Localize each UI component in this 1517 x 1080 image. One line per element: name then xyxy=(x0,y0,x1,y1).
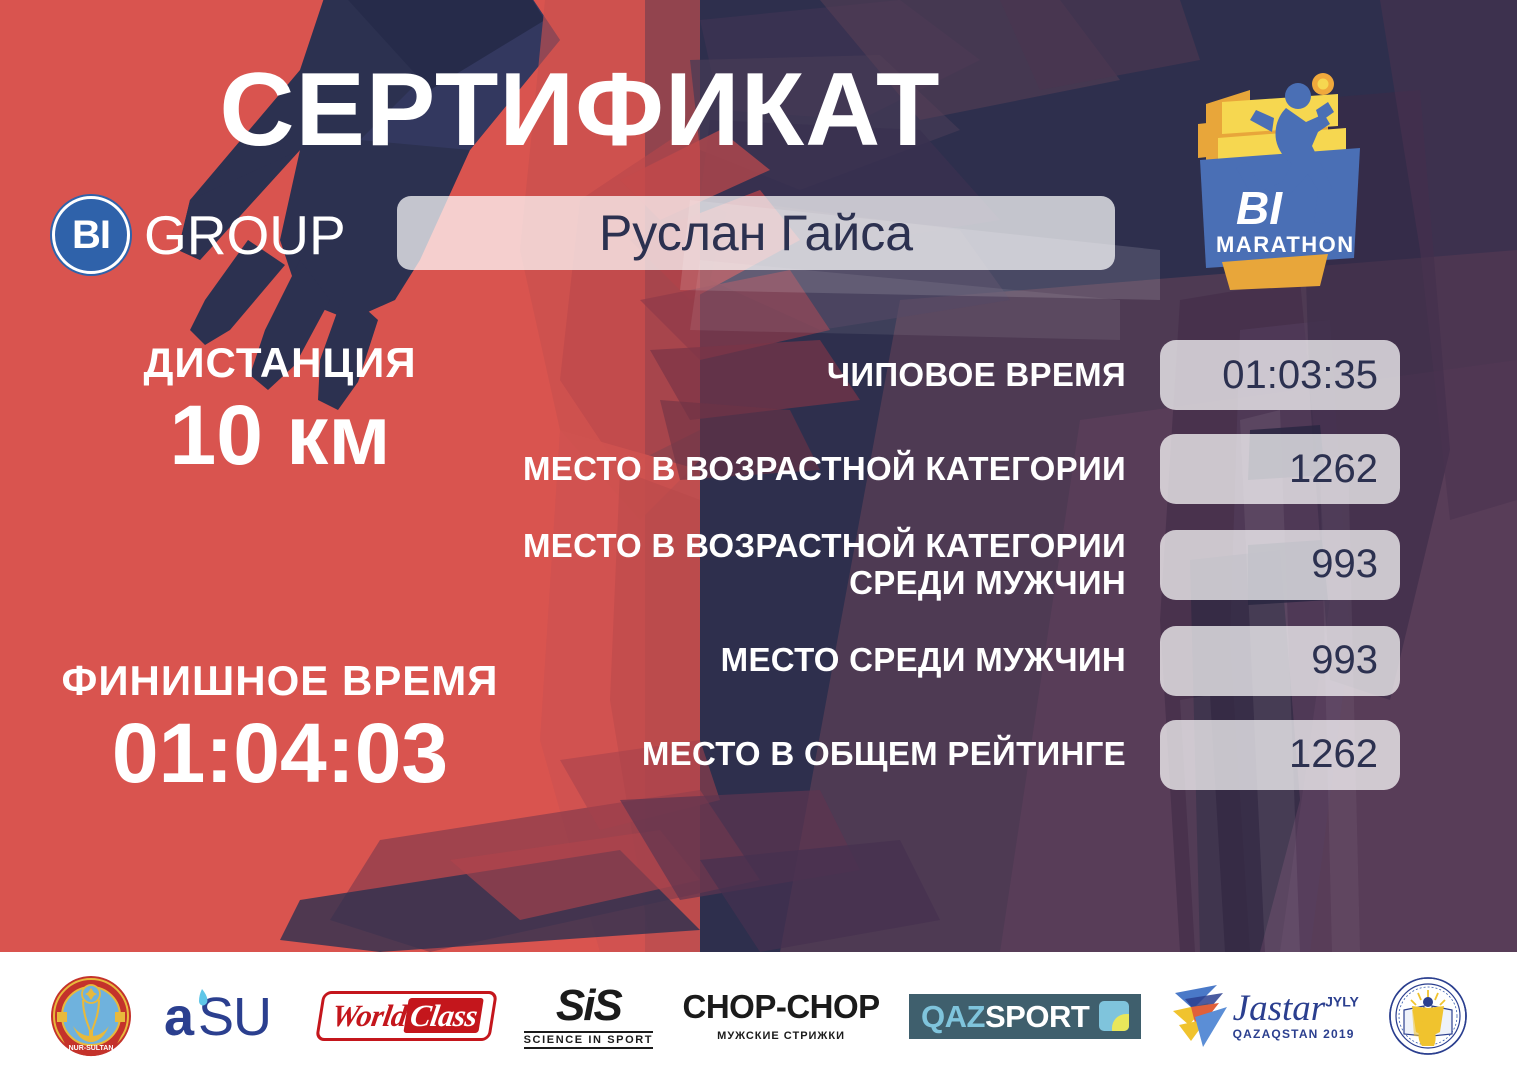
bi-group-logo: BI GROUP xyxy=(52,196,346,274)
qazsport-text-b: SPORT xyxy=(985,999,1089,1034)
stat-row-chip-time: ЧИПОВОЕ ВРЕМЯ 01:03:35 xyxy=(520,340,1400,410)
nur-sultan-emblem-icon: NUR-SULTAN xyxy=(49,974,133,1058)
finish-time-value: 01:04:03 xyxy=(20,707,540,799)
ministry-emblem-icon xyxy=(1388,976,1468,1056)
stat-row-men-place: МЕСТО СРЕДИ МУЖЧИН 993 xyxy=(520,626,1400,696)
men-place-value: 993 xyxy=(1160,626,1400,696)
sis-tagline: SCIENCE IN SPORT xyxy=(524,1031,654,1049)
bi-badge-icon: BI xyxy=(52,196,130,274)
page-title: СЕРТИФИКАТ xyxy=(0,58,1160,162)
svg-text:a: a xyxy=(164,987,195,1047)
men-place-label: МЕСТО СРЕДИ МУЖЧИН xyxy=(520,642,1160,679)
jastar-bird-icon xyxy=(1171,981,1233,1051)
overall-place-label: МЕСТО В ОБЩЕМ РЕЙТИНГЕ xyxy=(520,736,1160,773)
chop-chop-tagline: МУЖСКИЕ СТРИЖКИ xyxy=(683,1030,880,1042)
age-category-place-value: 1262 xyxy=(1160,434,1400,504)
bi-marathon-svg: BI MARATHON xyxy=(1178,62,1383,302)
jastar-jyly-text: JYLY xyxy=(1325,994,1359,1010)
asu-logo-icon: a SU xyxy=(162,985,290,1047)
stat-row-age-category-men-place: МЕСТО В ВОЗРАСТНОЙ КАТЕГОРИИ СРЕДИ МУЖЧИ… xyxy=(520,528,1400,602)
sponsor-chop-chop: CHOP-CHOP МУЖСКИЕ СТРИЖКИ xyxy=(683,990,880,1042)
world-class-text-b: Class xyxy=(404,998,484,1033)
qazsport-text-a: QAZ xyxy=(921,999,985,1034)
world-class-text-a: World xyxy=(330,998,410,1033)
svg-text:SU: SU xyxy=(198,987,271,1047)
nur-sultan-text: NUR-SULTAN xyxy=(68,1045,113,1052)
bi-marathon-logo: BI MARATHON xyxy=(1178,62,1383,302)
distance-label: ДИСТАНЦИЯ xyxy=(20,340,540,385)
left-stat-finish-time: ФИНИШНОЕ ВРЕМЯ 01:04:03 xyxy=(20,658,540,800)
jastar-wordmark: Jastar xyxy=(1233,988,1326,1029)
left-stat-distance: ДИСТАНЦИЯ 10 км xyxy=(20,340,540,482)
certificate-canvas: СЕРТИФИКАТ BI GROUP Руслан Гайса xyxy=(0,0,1517,1080)
sponsor-sis: SiS SCIENCE IN SPORT xyxy=(524,984,654,1049)
qazsport-mark-icon xyxy=(1099,1001,1129,1031)
age-category-men-place-value: 993 xyxy=(1160,530,1400,600)
chip-time-value: 01:03:35 xyxy=(1160,340,1400,410)
chip-time-label: ЧИПОВОЕ ВРЕМЯ xyxy=(520,357,1160,394)
jastar-tagline: QAZAQSTAN 2019 xyxy=(1233,1027,1359,1041)
qazsport-logo-icon: QAZSPORT xyxy=(909,994,1141,1039)
right-stats-column: ЧИПОВОЕ ВРЕМЯ 01:03:35 МЕСТО В ВОЗРАСТНО… xyxy=(520,340,1400,814)
sponsor-ministry xyxy=(1388,976,1468,1056)
age-category-place-label: МЕСТО В ВОЗРАСТНОЙ КАТЕГОРИИ xyxy=(520,451,1160,488)
sponsor-world-class: WorldClass xyxy=(319,991,494,1041)
sis-wordmark: SiS xyxy=(524,984,654,1028)
participant-name-field: Руслан Гайса xyxy=(397,196,1115,270)
chop-chop-wordmark: CHOP-CHOP xyxy=(683,990,880,1023)
sponsor-qazsport: QAZSPORT xyxy=(909,994,1141,1039)
bi-marathon-word-text: MARATHON xyxy=(1216,232,1355,257)
overall-place-value: 1262 xyxy=(1160,720,1400,790)
distance-value: 10 км xyxy=(20,389,540,481)
sponsor-nur-sultan: NUR-SULTAN xyxy=(49,974,133,1058)
bi-group-wordmark: GROUP xyxy=(144,208,346,263)
stat-row-age-category-place: МЕСТО В ВОЗРАСТНОЙ КАТЕГОРИИ 1262 xyxy=(520,434,1400,504)
sponsor-jastar: JastarJYLY QAZAQSTAN 2019 xyxy=(1171,981,1359,1051)
world-class-logo-icon: WorldClass xyxy=(315,991,498,1041)
left-stats-column: ДИСТАНЦИЯ 10 км ФИНИШНОЕ ВРЕМЯ 01:04:03 xyxy=(20,340,540,800)
sponsor-bar: NUR-SULTAN a SU WorldClass SiS SCIENCE I… xyxy=(0,952,1517,1080)
bi-marathon-bi-text: BI xyxy=(1236,182,1283,234)
finish-time-label: ФИНИШНОЕ ВРЕМЯ xyxy=(20,658,540,703)
stat-row-overall-place: МЕСТО В ОБЩЕМ РЕЙТИНГЕ 1262 xyxy=(520,720,1400,790)
sponsor-asu: a SU xyxy=(162,985,290,1047)
age-category-men-place-label: МЕСТО В ВОЗРАСТНОЙ КАТЕГОРИИ СРЕДИ МУЖЧИ… xyxy=(520,528,1160,602)
participant-name-text: Руслан Гайса xyxy=(599,208,913,258)
